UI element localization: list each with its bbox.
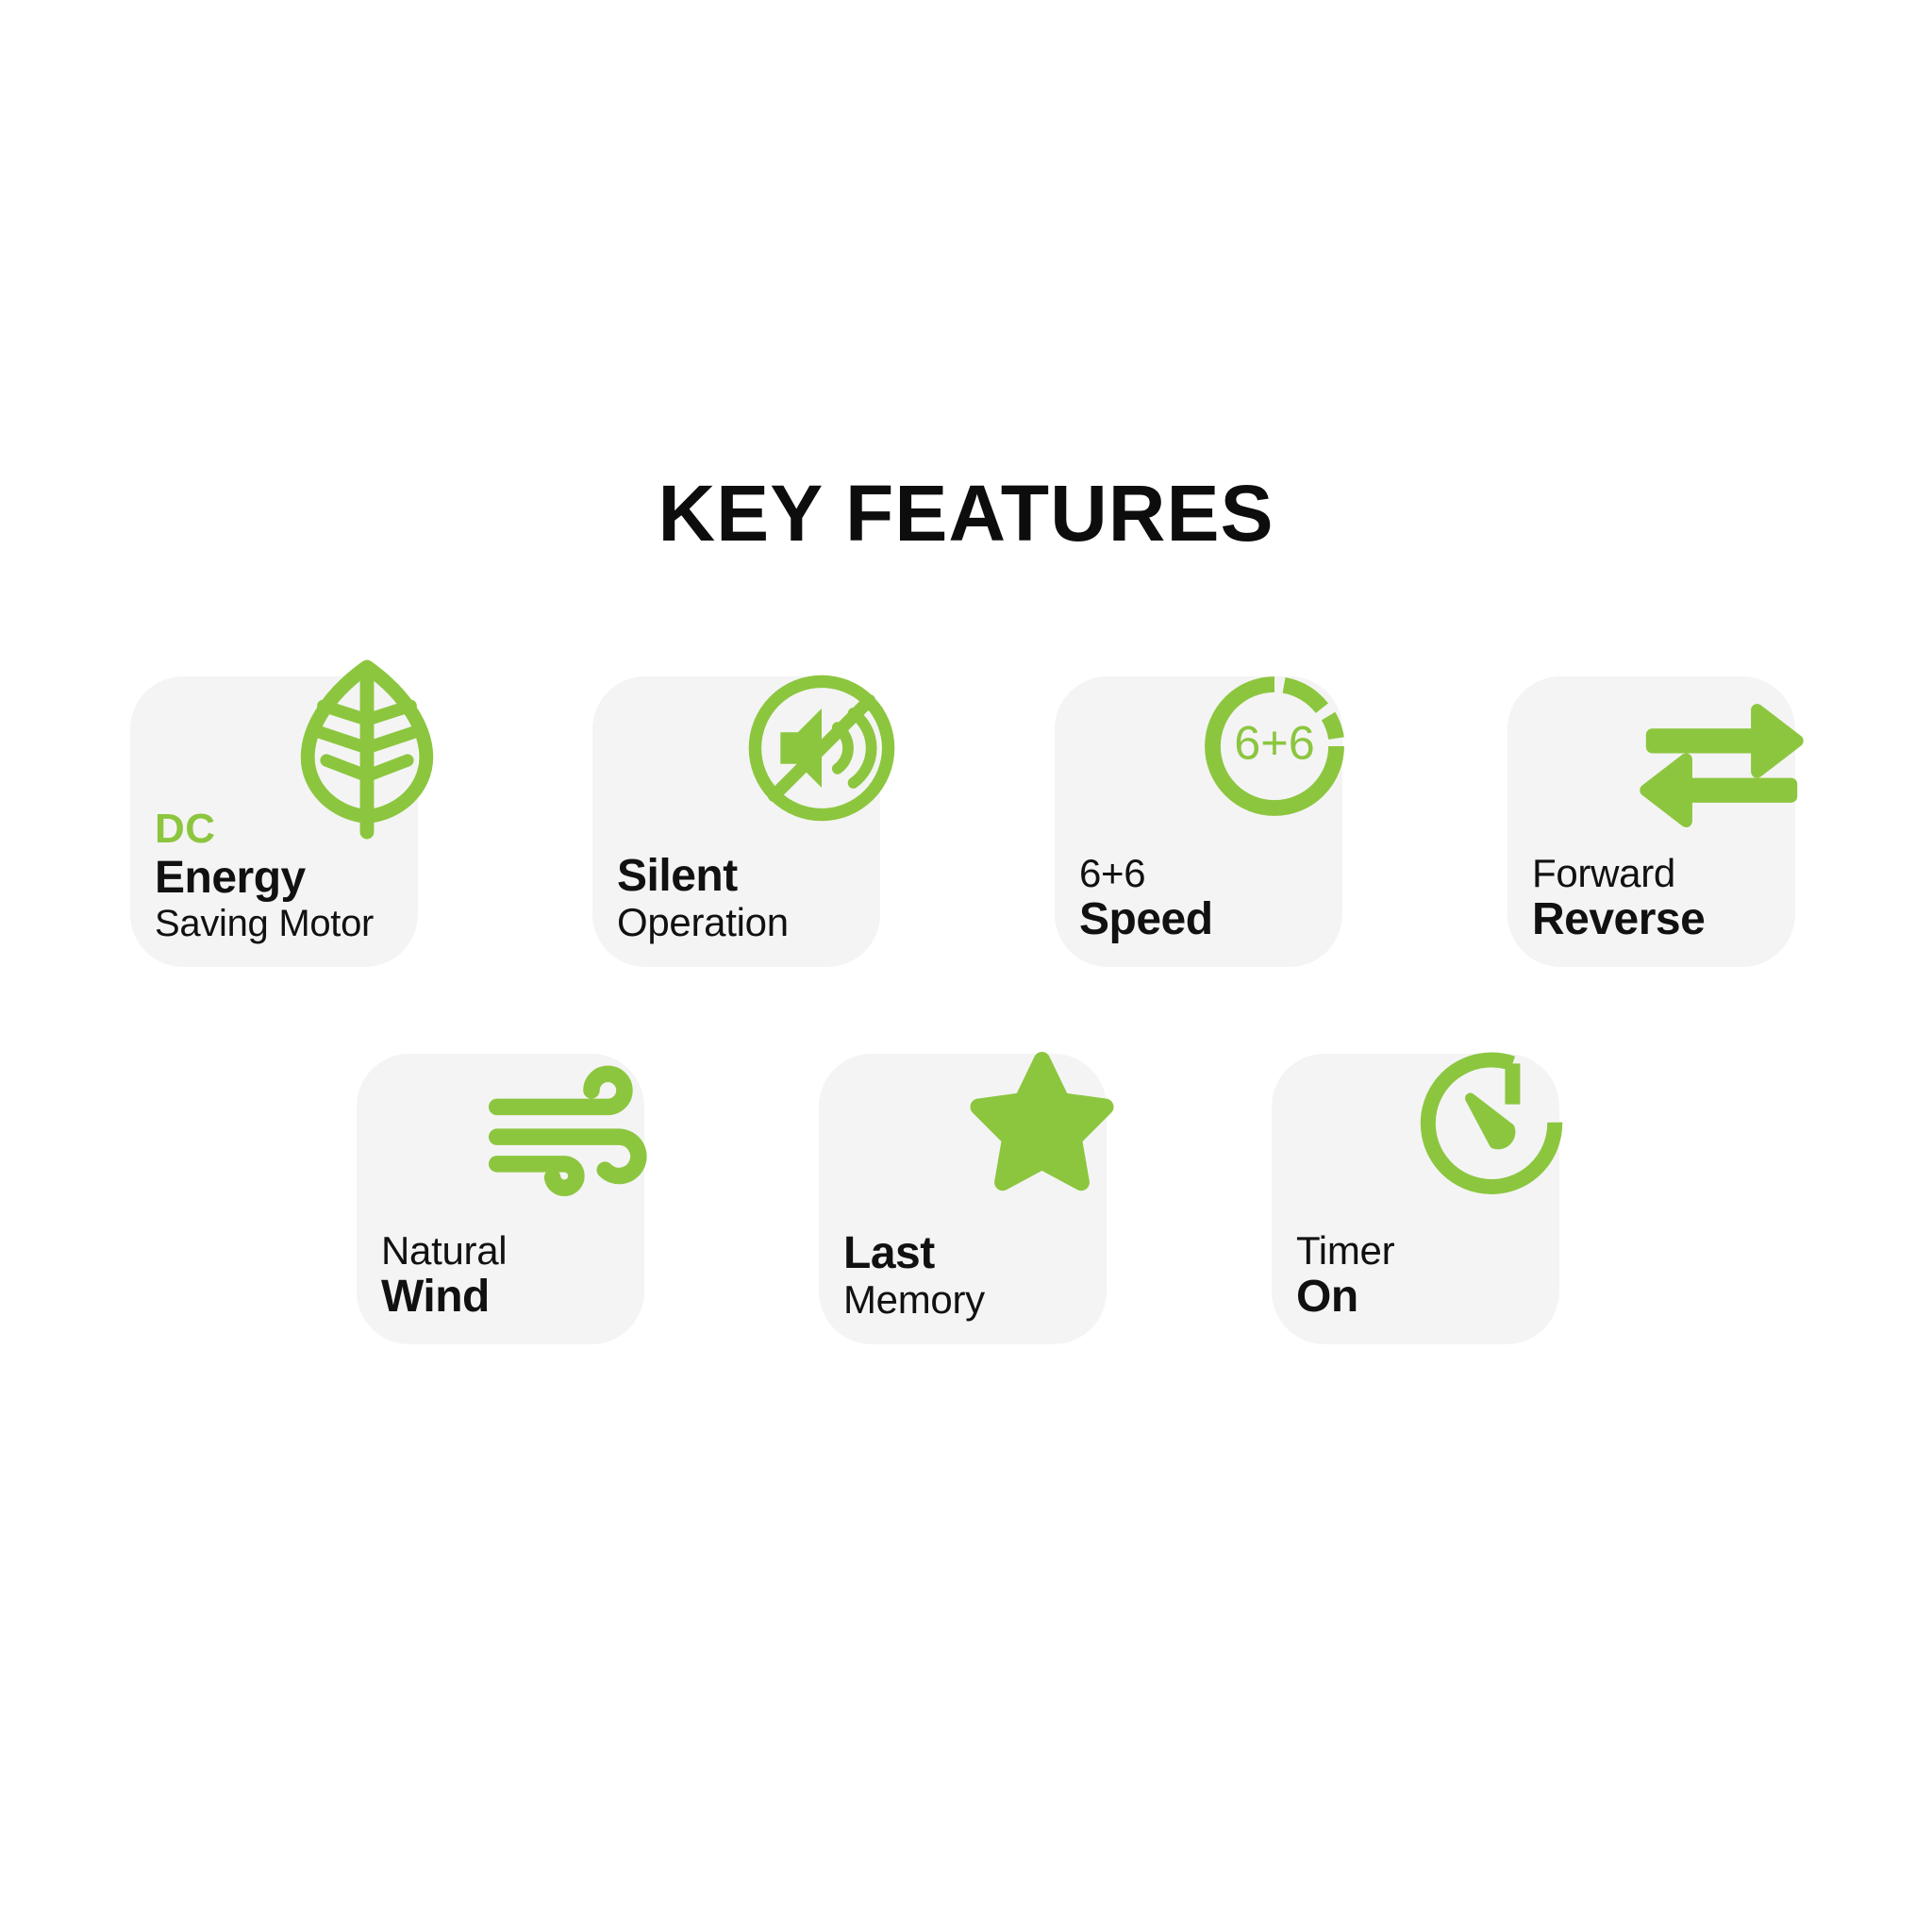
feature-labels: Natural Wind bbox=[381, 1231, 635, 1320]
feature-line-2: Natural bbox=[381, 1231, 635, 1271]
gauge-value-text: 6+6 bbox=[1234, 715, 1314, 769]
feature-card-natural-wind[interactable]: Natural Wind bbox=[357, 1054, 644, 1344]
feature-line-3: Saving Motor bbox=[155, 905, 408, 942]
star-icon bbox=[964, 1048, 1120, 1199]
timer-icon bbox=[1416, 1050, 1567, 1201]
feature-card-six-plus-six-speed[interactable]: 6+6 6+6 Speed bbox=[1055, 676, 1342, 967]
feature-line-2: Last bbox=[843, 1231, 1097, 1276]
feature-labels: 6+6 Speed bbox=[1079, 854, 1333, 942]
speed-gauge-icon: 6+6 bbox=[1195, 667, 1354, 825]
feature-labels: Silent Operation bbox=[617, 854, 871, 942]
feature-labels: Last Memory bbox=[843, 1231, 1097, 1320]
feature-card-dc-energy-saving-motor[interactable]: DC Energy Saving Motor bbox=[130, 676, 418, 967]
feature-line-1: DC bbox=[155, 808, 408, 850]
feature-line-2: Forward bbox=[1532, 854, 1786, 893]
wind-icon bbox=[485, 1073, 650, 1195]
feature-line-3: Memory bbox=[843, 1280, 1097, 1320]
feature-line-2: Timer bbox=[1296, 1231, 1550, 1271]
feature-labels: Forward Reverse bbox=[1532, 854, 1786, 942]
key-features-page: KEY FEATURES bbox=[0, 0, 1932, 1932]
feature-line-3: On bbox=[1296, 1274, 1550, 1320]
feature-line-3: Wind bbox=[381, 1274, 635, 1320]
feature-line-2: Energy bbox=[155, 856, 408, 901]
mute-speaker-icon bbox=[742, 669, 901, 827]
feature-line-2: Silent bbox=[617, 854, 871, 899]
feature-card-last-memory[interactable]: Last Memory bbox=[819, 1054, 1107, 1344]
feature-line-3: Operation bbox=[617, 903, 871, 942]
feature-labels: Timer On bbox=[1296, 1231, 1550, 1320]
feature-card-forward-reverse[interactable]: Forward Reverse bbox=[1507, 676, 1795, 967]
feature-labels: DC Energy Saving Motor bbox=[155, 808, 408, 942]
forward-reverse-arrows-icon bbox=[1637, 693, 1807, 825]
feature-line-3: Speed bbox=[1079, 897, 1333, 942]
feature-card-timer-on[interactable]: Timer On bbox=[1272, 1054, 1559, 1344]
feature-card-silent-operation[interactable]: Silent Operation bbox=[592, 676, 880, 967]
features-grid: DC Energy Saving Motor bbox=[0, 0, 1932, 1932]
feature-line-2: 6+6 bbox=[1079, 854, 1333, 893]
feature-line-3: Reverse bbox=[1532, 897, 1786, 942]
